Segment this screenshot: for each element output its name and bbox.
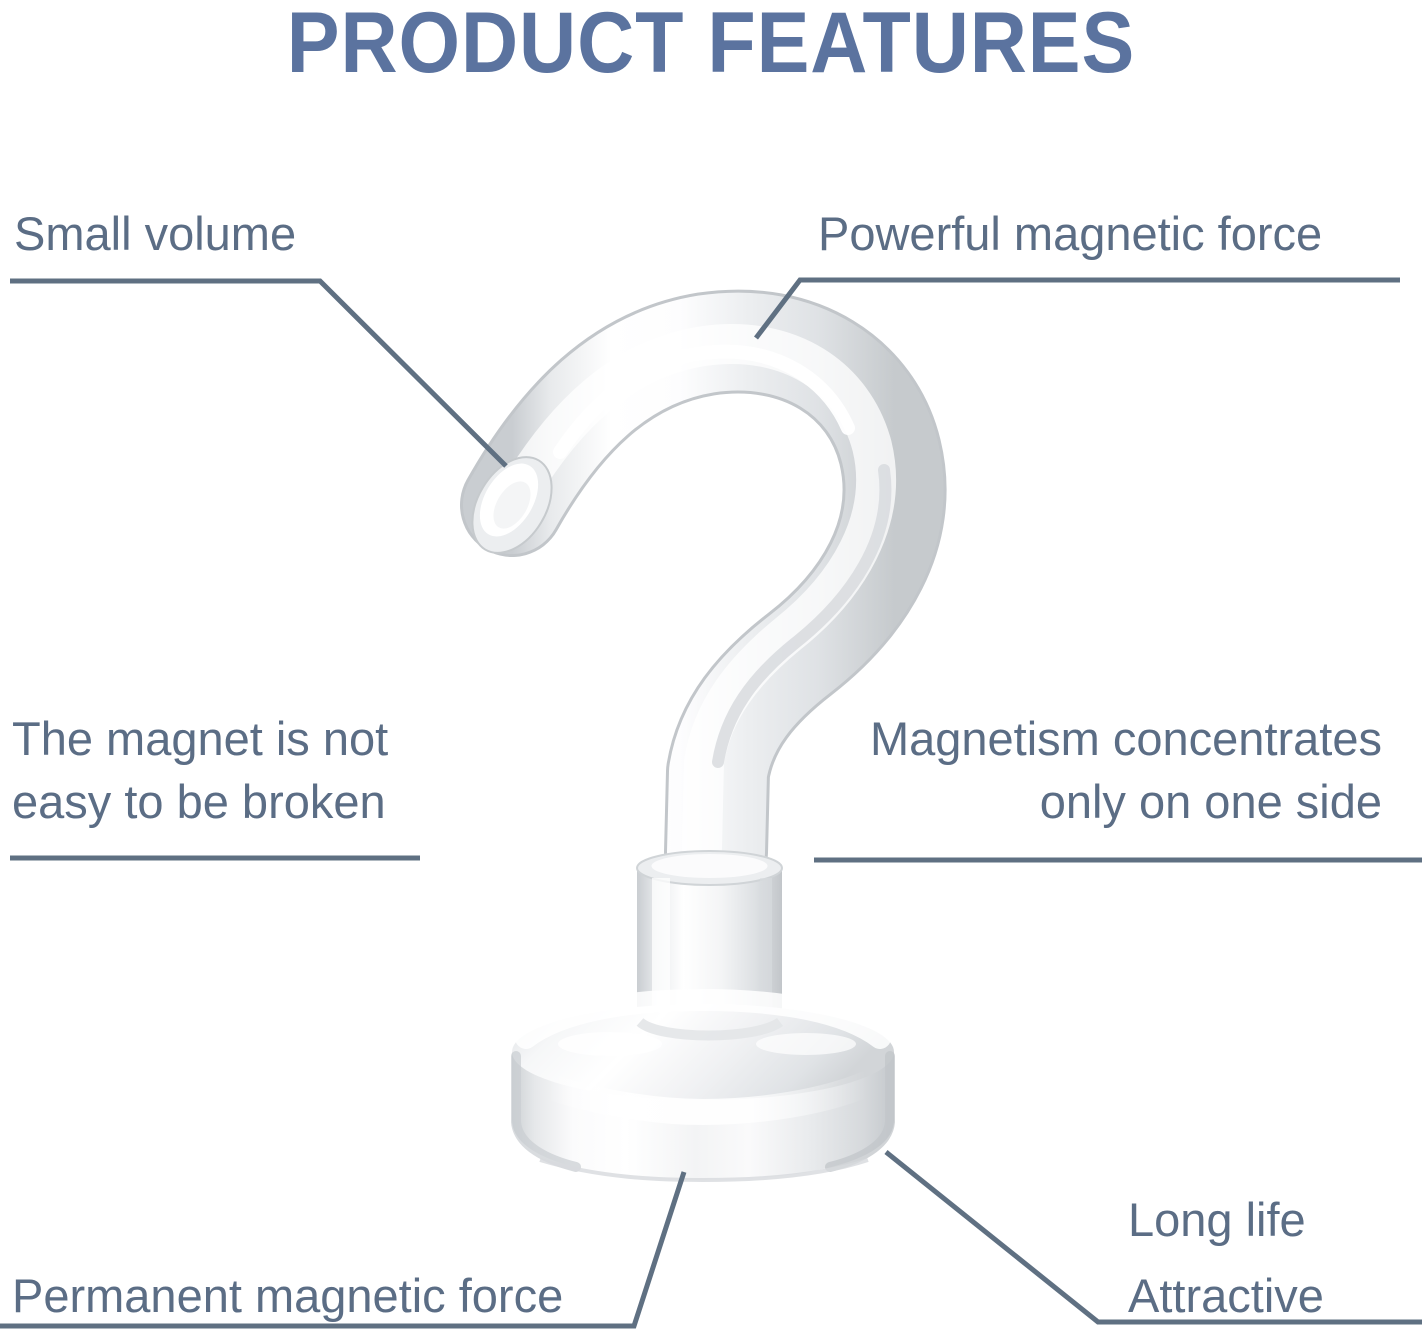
magnet-base [512, 1000, 894, 1180]
feature-label-small-volume: Small volume [14, 203, 296, 266]
product-features-infographic: PRODUCT FEATURES [0, 0, 1422, 1337]
feature-label-long-life: Long life [1128, 1189, 1306, 1252]
feature-label-powerful-magnetic-force: Powerful magnetic force [818, 203, 1322, 266]
feature-label-not-easy-broken: The magnet is not easy to be broken [12, 708, 388, 833]
feature-label-attractive: Attractive [1128, 1265, 1324, 1328]
feature-label-permanent-magnetic-force: Permanent magnetic force [12, 1265, 563, 1328]
magnetic-hook-illustration [0, 0, 1422, 1337]
feature-label-magnetism-one-side: Magnetism concentrates only on one side [812, 708, 1382, 833]
